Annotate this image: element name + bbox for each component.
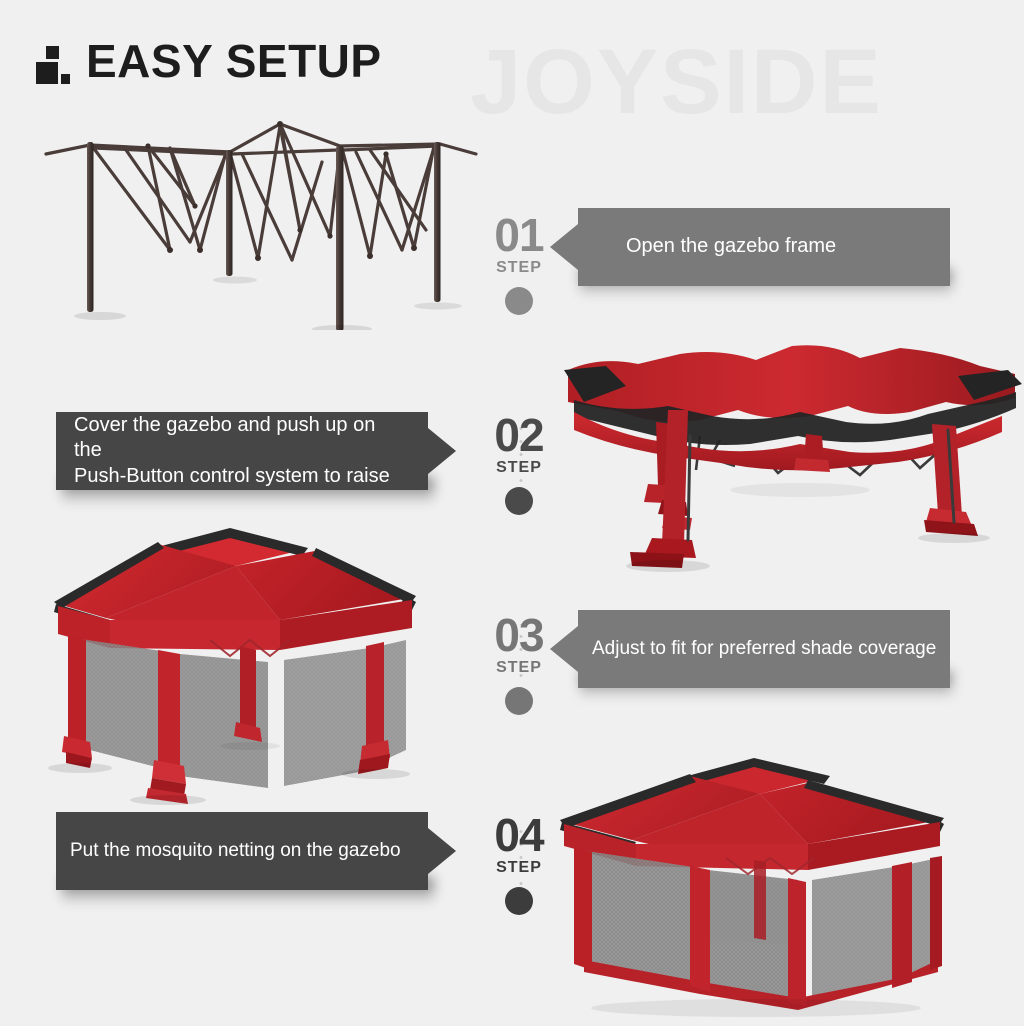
step-text: Adjust to fit for preferred shade covera… — [592, 637, 936, 661]
step-banner-02: Cover the gazebo and push up on the Push… — [56, 412, 428, 490]
page-title: EASY SETUP — [86, 40, 382, 84]
step-banner-01: Open the gazebo frame — [578, 208, 950, 286]
step-text: Cover the gazebo and push up on the Push… — [74, 413, 404, 490]
step-marker-02: 02 STEP — [459, 414, 579, 515]
step-banner-04: Put the mosquito netting on the gazebo — [56, 812, 428, 890]
banner-arrow-right-icon — [428, 828, 456, 874]
step-dot — [505, 287, 533, 315]
step-word: STEP — [459, 259, 579, 277]
easy-setup-infographic: JOYSIDE EASY SETUP — [0, 0, 1024, 1024]
gazebo-with-mosquito-netting-photo — [540, 740, 1005, 1025]
step-number: 02 — [459, 414, 579, 458]
gazebo-frame-unfolded-photo — [30, 110, 480, 330]
step-marker-03: 03 STEP — [459, 614, 579, 715]
step-dot — [505, 887, 533, 915]
step-number: 01 — [459, 214, 579, 258]
gazebo-canopy-draped-photo — [560, 340, 1024, 585]
step-dot — [505, 687, 533, 715]
step-number: 04 — [459, 814, 579, 858]
step-marker-04: 04 STEP — [459, 814, 579, 915]
step-word: STEP — [459, 459, 579, 477]
step-dot — [505, 487, 533, 515]
joyside-square-logo-icon — [36, 44, 70, 84]
gazebo-raised-with-curtains-photo — [40, 520, 465, 805]
step-marker-01: 01 STEP — [459, 214, 579, 315]
step-number: 03 — [459, 614, 579, 658]
step-text: Put the mosquito netting on the gazebo — [70, 839, 401, 863]
step-word: STEP — [459, 659, 579, 677]
step-text: Open the gazebo frame — [626, 234, 836, 260]
page-header: EASY SETUP — [36, 40, 382, 84]
banner-arrow-right-icon — [428, 428, 456, 474]
joyside-watermark: JOYSIDE — [470, 36, 883, 128]
step-banner-03: Adjust to fit for preferred shade covera… — [578, 610, 950, 688]
step-word: STEP — [459, 859, 579, 877]
